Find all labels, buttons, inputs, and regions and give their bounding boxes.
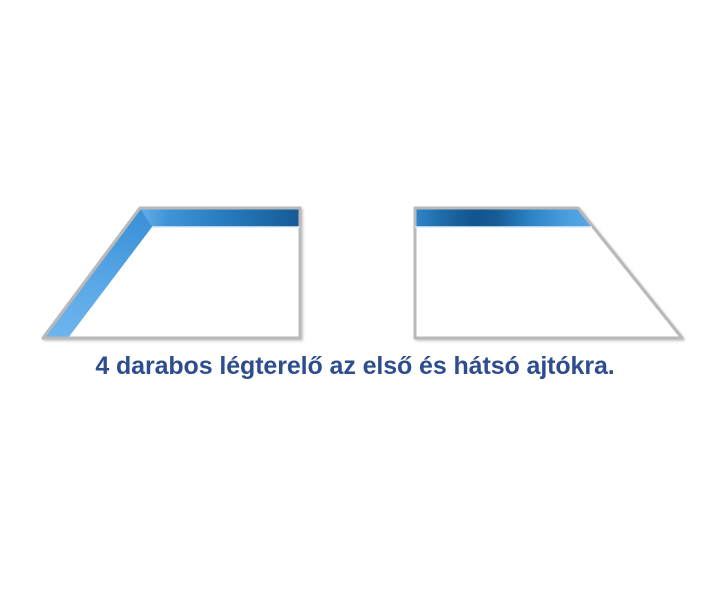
front-deflector-band-top bbox=[140, 208, 300, 227]
wind-deflector-diagram bbox=[0, 0, 710, 613]
rear-door-deflector-shape bbox=[415, 208, 682, 338]
illustration-canvas: 4 darabos légterelő az első és hátsó ajt… bbox=[0, 0, 710, 613]
rear-deflector-band-top bbox=[415, 208, 594, 227]
caption-text: 4 darabos légterelő az első és hátsó ajt… bbox=[0, 352, 710, 381]
front-door-deflector-shape bbox=[43, 208, 300, 338]
